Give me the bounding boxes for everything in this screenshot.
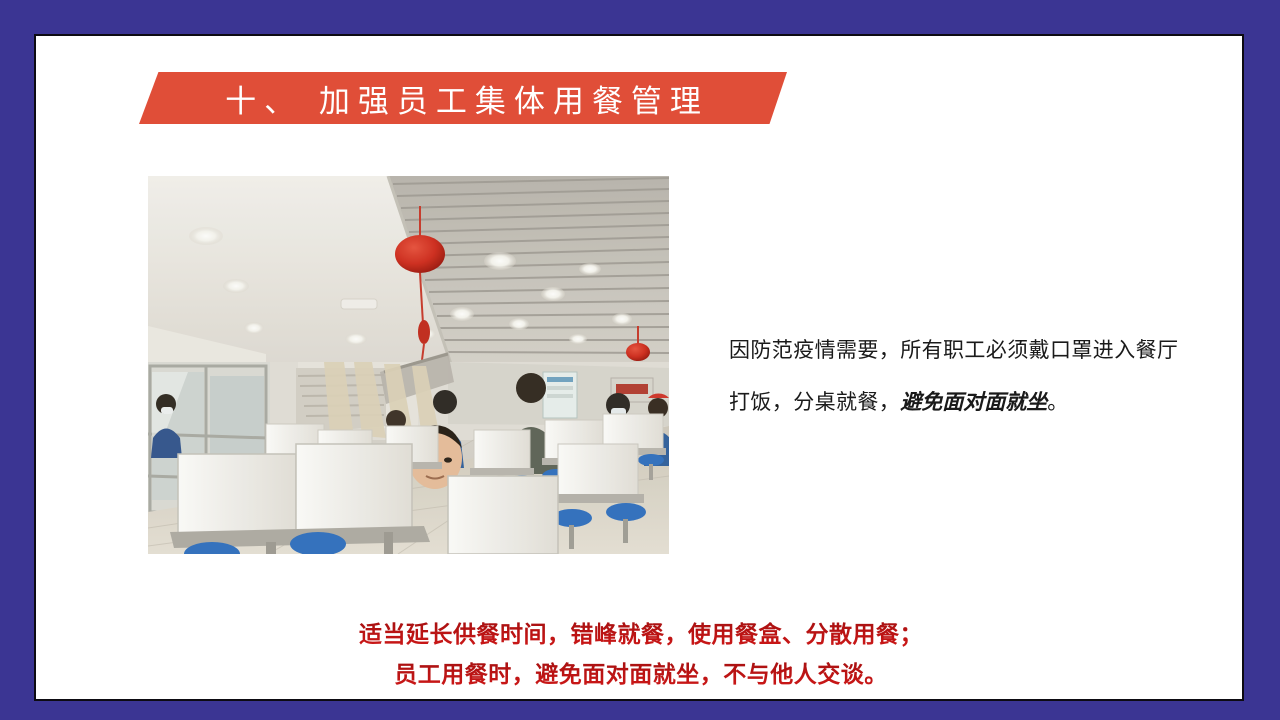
slide-root: 十、 加强员工集体用餐管理 [0,0,1280,720]
callout-block: 适当延长供餐时间，错峰就餐，使用餐盒、分散用餐； 员工用餐时，避免面对面就坐，不… [36,614,1246,694]
description-paragraph: 因防范疫情需要，所有职工必须戴口罩进入餐厅 打饭，分桌就餐，避免面对面就坐。 [729,325,1259,429]
description-line-2: 打饭，分桌就餐，避免面对面就坐。 [729,377,1259,429]
slide-content-panel: 十、 加强员工集体用餐管理 [34,34,1244,701]
page-title: 十、 加强员工集体用餐管理 [139,72,787,124]
callout-line-1: 适当延长供餐时间，错峰就餐，使用餐盒、分散用餐； [36,614,1246,654]
section-title-banner: 十、 加强员工集体用餐管理 [139,72,787,124]
callout-line-2: 员工用餐时，避免面对面就坐，不与他人交谈。 [36,654,1246,694]
description-line-1: 因防范疫情需要，所有职工必须戴口罩进入餐厅 [729,325,1259,377]
cafeteria-photo-graphic [148,176,669,554]
description-emphasis: 避免面对面就坐 [900,391,1047,414]
description-line-2-prefix: 打饭，分桌就餐， [729,391,900,414]
description-line-2-suffix: 。 [1047,391,1068,414]
cafeteria-photo [148,176,669,554]
